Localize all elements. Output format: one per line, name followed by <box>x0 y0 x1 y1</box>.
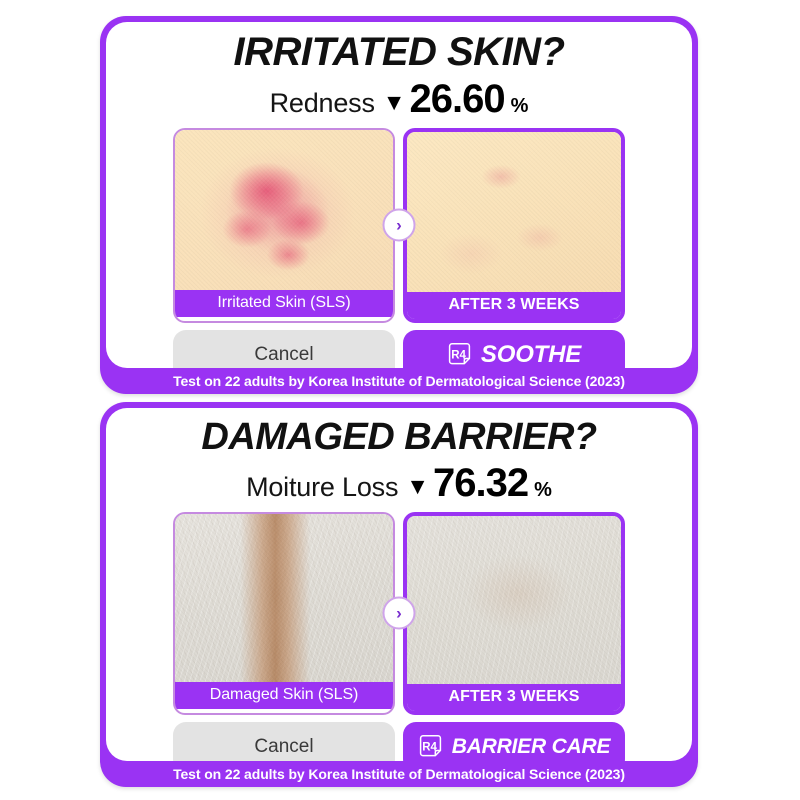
action-buttons: Cancel R4 BARRIER CARE <box>173 722 625 761</box>
card-content-panel: DAMAGED BARRIER? Moiture Loss ▼ 76.32 % … <box>106 408 692 761</box>
metric-unit: % <box>534 479 552 502</box>
soothe-button-label: SOOTHE <box>481 341 581 368</box>
after-caption: AFTER 3 WEEKS <box>407 292 621 319</box>
after-photo <box>407 132 621 292</box>
before-caption: Irritated Skin (SLS) <box>175 290 393 317</box>
svg-text:R4: R4 <box>422 742 437 754</box>
promo-card-damaged-barrier: DAMAGED BARRIER? Moiture Loss ▼ 76.32 % … <box>100 402 698 787</box>
barrier-care-button[interactable]: R4 BARRIER CARE <box>403 722 625 761</box>
metric-label: Moiture Loss <box>246 472 398 503</box>
down-triangle-icon: ▼ <box>383 91 406 114</box>
after-caption: AFTER 3 WEEKS <box>407 684 621 711</box>
before-pane[interactable]: Irritated Skin (SLS) <box>173 128 395 323</box>
page-title: DAMAGED BARRIER? <box>201 418 596 458</box>
promo-stage: IRRITATED SKIN? Redness ▼ 26.60 % Irrita… <box>0 0 800 800</box>
down-triangle-icon: ▼ <box>406 475 429 498</box>
before-photo <box>175 130 393 290</box>
cancel-button[interactable]: Cancel <box>173 722 395 761</box>
chevron-right-icon: › <box>383 597 416 630</box>
card-content-panel: IRRITATED SKIN? Redness ▼ 26.60 % Irrita… <box>106 22 692 368</box>
metric-label: Redness <box>270 88 375 119</box>
metric-row: Redness ▼ 26.60 % <box>270 77 529 122</box>
metric-unit: % <box>511 95 529 118</box>
chevron-right-icon: › <box>383 209 416 242</box>
barrier-care-button-label: BARRIER CARE <box>452 735 611 759</box>
page-title: IRRITATED SKIN? <box>234 32 565 74</box>
before-after-comparison: Damaged Skin (SLS) AFTER 3 WEEKS › <box>173 512 625 715</box>
soothe-button[interactable]: R4 SOOTHE <box>403 330 625 368</box>
metric-value: 76.32 <box>433 461 528 506</box>
svg-text:R4: R4 <box>451 350 466 362</box>
r4-logo-icon: R4 <box>447 342 472 367</box>
after-pane[interactable]: AFTER 3 WEEKS <box>403 512 625 715</box>
cancel-button[interactable]: Cancel <box>173 330 395 368</box>
footnote-study-note: Test on 22 adults by Korea Institute of … <box>106 368 692 394</box>
before-pane[interactable]: Damaged Skin (SLS) <box>173 512 395 715</box>
metric-value: 26.60 <box>410 77 505 122</box>
r4-logo-icon: R4 <box>418 734 443 759</box>
before-photo <box>175 514 393 682</box>
before-after-comparison: Irritated Skin (SLS) AFTER 3 WEEKS › <box>173 128 625 323</box>
after-pane[interactable]: AFTER 3 WEEKS <box>403 128 625 323</box>
promo-card-irritated-skin: IRRITATED SKIN? Redness ▼ 26.60 % Irrita… <box>100 16 698 394</box>
before-caption: Damaged Skin (SLS) <box>175 682 393 709</box>
action-buttons: Cancel R4 SOOTHE <box>173 330 625 368</box>
metric-row: Moiture Loss ▼ 76.32 % <box>246 461 552 506</box>
footnote-study-note: Test on 22 adults by Korea Institute of … <box>106 761 692 788</box>
after-photo <box>407 516 621 684</box>
